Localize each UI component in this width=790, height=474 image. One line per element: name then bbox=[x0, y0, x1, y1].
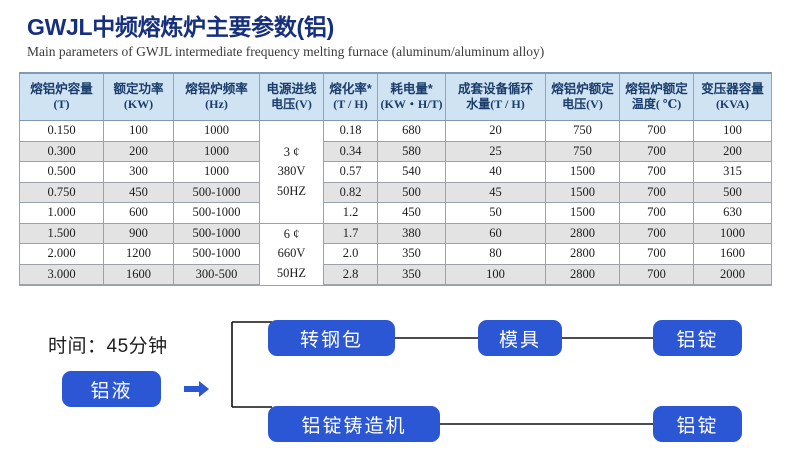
column-header-water-name: 成套设备循环 bbox=[458, 82, 533, 96]
cell-power: 200 bbox=[104, 141, 174, 162]
cell-frequency: 1000 bbox=[174, 121, 260, 142]
column-header-melt-rate: 熔化率* (T / H) bbox=[324, 73, 378, 121]
column-header-energy-name: 耗电量* bbox=[390, 82, 432, 96]
cell-temperature: 700 bbox=[620, 223, 694, 244]
column-header-energy-unit: (KW・H/T) bbox=[378, 97, 445, 112]
cell-rated-voltage: 2800 bbox=[546, 244, 620, 265]
column-header-supply-voltage: 电源进线 电压(V) bbox=[260, 73, 324, 121]
cell-power: 900 bbox=[104, 223, 174, 244]
column-header-power-name: 额定功率 bbox=[113, 82, 163, 96]
cell-melt-rate: 0.18 bbox=[324, 121, 378, 142]
cell-frequency: 1000 bbox=[174, 141, 260, 162]
table-row: 0.750 450 500-1000 0.82 500 45 1500 700 … bbox=[20, 182, 772, 203]
column-header-frequency: 熔铝炉频率 (Hz) bbox=[174, 73, 260, 121]
column-header-transformer-unit: (KVA) bbox=[694, 97, 771, 112]
cell-energy: 380 bbox=[378, 223, 446, 244]
cell-transformer: 500 bbox=[694, 182, 772, 203]
cell-power: 300 bbox=[104, 162, 174, 183]
flow-node-ingot-caster[interactable]: 铝锭铸造机 bbox=[268, 406, 440, 442]
flow-node-ladle[interactable]: 转钢包 bbox=[268, 320, 395, 356]
spec-table-container: 熔铝炉容量 (T) 额定功率 (KW) 熔铝炉频率 (Hz) 电源进线 电压(V… bbox=[19, 72, 771, 286]
table-body: 0.150 100 1000 3 ¢ 380V 50HZ 0.18 680 20… bbox=[20, 121, 772, 286]
cell-melt-rate: 0.82 bbox=[324, 182, 378, 203]
cell-temperature: 700 bbox=[620, 182, 694, 203]
table-row: 3.000 1600 300-500 2.8 350 100 2800 700 … bbox=[20, 264, 772, 285]
cell-capacity: 0.500 bbox=[20, 162, 104, 183]
cell-melt-rate: 1.2 bbox=[324, 203, 378, 224]
column-header-water: 成套设备循环 水量(T / H) bbox=[446, 73, 546, 121]
cell-capacity: 0.150 bbox=[20, 121, 104, 142]
flow-node-ingot-top[interactable]: 铝锭 bbox=[653, 320, 742, 356]
column-header-rated-voltage-unit: 电压(V) bbox=[546, 97, 619, 112]
column-header-rated-voltage: 熔铝炉额定 电压(V) bbox=[546, 73, 620, 121]
cell-transformer: 100 bbox=[694, 121, 772, 142]
cell-melt-rate: 2.0 bbox=[324, 244, 378, 265]
cell-water: 25 bbox=[446, 141, 546, 162]
cell-rated-voltage: 2800 bbox=[546, 264, 620, 285]
cell-water: 100 bbox=[446, 264, 546, 285]
right-arrow-icon bbox=[184, 380, 210, 398]
column-header-temperature: 熔铝炉额定 温度( ℃) bbox=[620, 73, 694, 121]
cell-temperature: 700 bbox=[620, 121, 694, 142]
cell-temperature: 700 bbox=[620, 203, 694, 224]
cell-water: 20 bbox=[446, 121, 546, 142]
cell-temperature: 700 bbox=[620, 264, 694, 285]
cell-energy: 350 bbox=[378, 244, 446, 265]
flow-node-mould[interactable]: 模具 bbox=[478, 320, 562, 356]
column-header-capacity-name: 熔铝炉容量 bbox=[30, 82, 93, 96]
cell-water: 80 bbox=[446, 244, 546, 265]
cell-melt-rate: 0.34 bbox=[324, 141, 378, 162]
cell-transformer: 1000 bbox=[694, 223, 772, 244]
cell-rated-voltage: 750 bbox=[546, 141, 620, 162]
cell-rated-voltage: 1500 bbox=[546, 203, 620, 224]
cell-energy: 680 bbox=[378, 121, 446, 142]
cell-frequency: 500-1000 bbox=[174, 244, 260, 265]
column-header-capacity: 熔铝炉容量 (T) bbox=[20, 73, 104, 121]
column-header-temperature-unit: 温度( ℃) bbox=[620, 97, 693, 112]
cell-energy: 580 bbox=[378, 141, 446, 162]
cell-water: 50 bbox=[446, 203, 546, 224]
column-header-melt-rate-name: 熔化率* bbox=[329, 82, 371, 96]
cell-rated-voltage: 750 bbox=[546, 121, 620, 142]
cell-capacity: 3.000 bbox=[20, 264, 104, 285]
column-header-supply-voltage-name: 电源进线 bbox=[266, 82, 316, 96]
cell-melt-rate: 2.8 bbox=[324, 264, 378, 285]
table-row: 1.000 600 500-1000 1.2 450 50 1500 700 6… bbox=[20, 203, 772, 224]
column-header-frequency-name: 熔铝炉频率 bbox=[185, 82, 248, 96]
cell-capacity: 1.500 bbox=[20, 223, 104, 244]
cell-supply-voltage-group-2: 6 ¢ 660V 50HZ bbox=[260, 223, 324, 285]
table-row: 0.150 100 1000 3 ¢ 380V 50HZ 0.18 680 20… bbox=[20, 121, 772, 142]
cell-rated-voltage: 1500 bbox=[546, 182, 620, 203]
cell-water: 40 bbox=[446, 162, 546, 183]
column-header-power-unit: (KW) bbox=[104, 97, 173, 112]
page-subtitle: Main parameters of GWJL intermediate fre… bbox=[27, 44, 767, 60]
cell-power: 1200 bbox=[104, 244, 174, 265]
cell-power: 1600 bbox=[104, 264, 174, 285]
cell-energy: 500 bbox=[378, 182, 446, 203]
column-header-power: 额定功率 (KW) bbox=[104, 73, 174, 121]
cell-power: 600 bbox=[104, 203, 174, 224]
cell-water: 45 bbox=[446, 182, 546, 203]
cell-power: 100 bbox=[104, 121, 174, 142]
cell-temperature: 700 bbox=[620, 244, 694, 265]
cell-temperature: 700 bbox=[620, 141, 694, 162]
cell-energy: 350 bbox=[378, 264, 446, 285]
cell-water: 60 bbox=[446, 223, 546, 244]
cell-melt-rate: 1.7 bbox=[324, 223, 378, 244]
cell-frequency: 500-1000 bbox=[174, 182, 260, 203]
cell-melt-rate: 0.57 bbox=[324, 162, 378, 183]
column-header-frequency-unit: (Hz) bbox=[174, 97, 259, 112]
table-header-row: 熔铝炉容量 (T) 额定功率 (KW) 熔铝炉频率 (Hz) 电源进线 电压(V… bbox=[20, 73, 772, 121]
cell-power: 450 bbox=[104, 182, 174, 203]
column-header-melt-rate-unit: (T / H) bbox=[324, 97, 377, 112]
column-header-rated-voltage-name: 熔铝炉额定 bbox=[551, 82, 614, 96]
cell-capacity: 0.300 bbox=[20, 141, 104, 162]
cell-transformer: 1600 bbox=[694, 244, 772, 265]
cell-supply-voltage-group-1: 3 ¢ 380V 50HZ bbox=[260, 121, 324, 224]
flow-node-ingot-bottom[interactable]: 铝锭 bbox=[653, 406, 742, 442]
table-row: 2.000 1200 500-1000 2.0 350 80 2800 700 … bbox=[20, 244, 772, 265]
cell-temperature: 700 bbox=[620, 162, 694, 183]
cell-frequency: 500-1000 bbox=[174, 203, 260, 224]
column-header-temperature-name: 熔铝炉额定 bbox=[625, 82, 688, 96]
table-row: 1.500 900 500-1000 6 ¢ 660V 50HZ 1.7 380… bbox=[20, 223, 772, 244]
column-header-capacity-unit: (T) bbox=[20, 97, 103, 112]
column-header-transformer-name: 变压器容量 bbox=[701, 82, 764, 96]
cell-capacity: 0.750 bbox=[20, 182, 104, 203]
cell-capacity: 2.000 bbox=[20, 244, 104, 265]
specification-table: 熔铝炉容量 (T) 额定功率 (KW) 熔铝炉频率 (Hz) 电源进线 电压(V… bbox=[19, 72, 772, 286]
cell-transformer: 630 bbox=[694, 203, 772, 224]
cell-frequency: 300-500 bbox=[174, 264, 260, 285]
cell-rated-voltage: 1500 bbox=[546, 162, 620, 183]
column-header-transformer: 变压器容量 (KVA) bbox=[694, 73, 772, 121]
time-label: 时间：45分钟 bbox=[48, 331, 168, 358]
cell-capacity: 1.000 bbox=[20, 203, 104, 224]
column-header-energy: 耗电量* (KW・H/T) bbox=[378, 73, 446, 121]
cell-transformer: 315 bbox=[694, 162, 772, 183]
table-row: 0.500 300 1000 0.57 540 40 1500 700 315 bbox=[20, 162, 772, 183]
cell-energy: 450 bbox=[378, 203, 446, 224]
flow-node-molten-aluminum[interactable]: 铝液 bbox=[62, 371, 161, 407]
cell-transformer: 2000 bbox=[694, 264, 772, 285]
cell-frequency: 500-1000 bbox=[174, 223, 260, 244]
column-header-supply-voltage-unit: 电压(V) bbox=[260, 97, 323, 112]
page-title: GWJL中频熔炼炉主要参数(铝) bbox=[27, 14, 767, 40]
cell-energy: 540 bbox=[378, 162, 446, 183]
cell-transformer: 200 bbox=[694, 141, 772, 162]
cell-frequency: 1000 bbox=[174, 162, 260, 183]
header-block: GWJL中频熔炼炉主要参数(铝) Main parameters of GWJL… bbox=[27, 14, 767, 60]
cell-rated-voltage: 2800 bbox=[546, 223, 620, 244]
column-header-water-unit: 水量(T / H) bbox=[446, 97, 545, 112]
table-row: 0.300 200 1000 0.34 580 25 750 700 200 bbox=[20, 141, 772, 162]
